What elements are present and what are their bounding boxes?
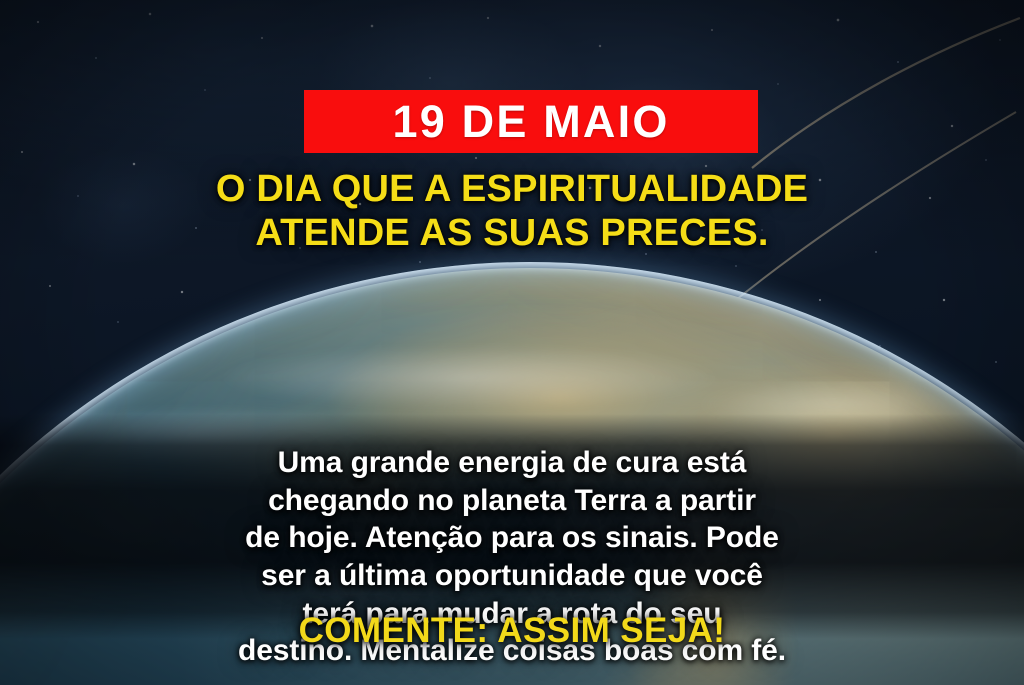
body-line-2: chegando no planeta Terra a partir: [0, 482, 1024, 520]
date-banner: 19 DE MAIO: [304, 90, 758, 153]
headline: O DIA QUE A ESPIRITUALIDADE ATENDE AS SU…: [0, 167, 1024, 255]
poster-content: 19 DE MAIO O DIA QUE A ESPIRITUALIDADE A…: [0, 0, 1024, 685]
headline-line-2: ATENDE AS SUAS PRECES.: [0, 211, 1024, 255]
date-banner-label: 19 DE MAIO: [392, 99, 669, 144]
body-line-3: de hoje. Atenção para os sinais. Pode: [0, 519, 1024, 557]
call-to-action-text: COMENTE: ASSIM SEJA!: [0, 612, 1024, 651]
body-line-1: Uma grande energia de cura está: [0, 444, 1024, 482]
poster-canvas: 19 DE MAIO O DIA QUE A ESPIRITUALIDADE A…: [0, 0, 1024, 685]
headline-line-1: O DIA QUE A ESPIRITUALIDADE: [0, 167, 1024, 211]
body-line-4: ser a última oportunidade que você: [0, 557, 1024, 595]
